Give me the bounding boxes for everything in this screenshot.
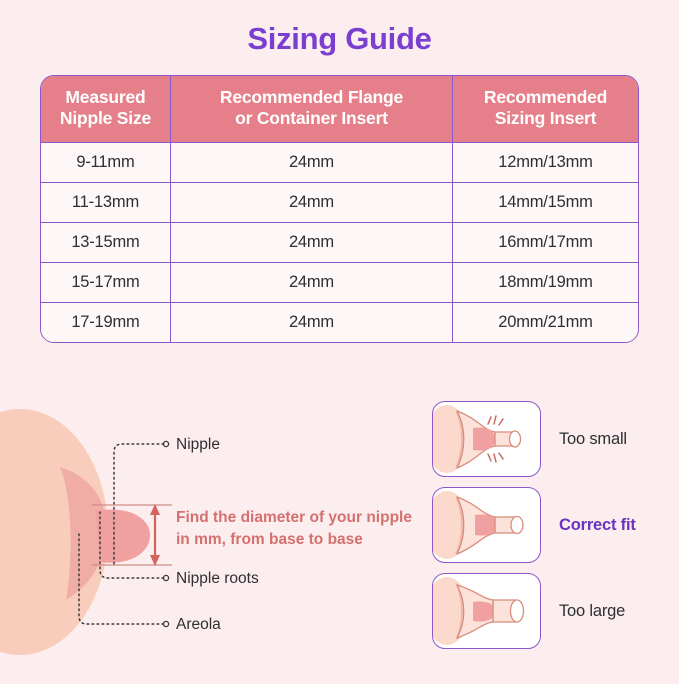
cell-sizing-insert: 18mm/19mm — [453, 262, 639, 302]
cell-recommended-flange: 24mm — [170, 302, 452, 342]
cell-sizing-insert: 14mm/15mm — [453, 182, 639, 222]
table-header: Measured Nipple Size Recommended Flange … — [41, 76, 638, 142]
cell-measured-nipple-size: 13-15mm — [41, 222, 170, 262]
column-header-measured-nipple-size: Measured Nipple Size — [41, 76, 170, 142]
fit-label-correct-fit: Correct fit — [559, 516, 636, 535]
tunnel-opening-icon — [511, 517, 523, 534]
fit-card-correct-fit — [432, 487, 541, 563]
header-line-1: Measured — [65, 87, 145, 107]
cell-recommended-flange: 24mm — [170, 142, 452, 182]
column-header-recommended-flange: Recommended Flange or Container Insert — [170, 76, 452, 142]
cell-measured-nipple-size: 15-17mm — [41, 262, 170, 302]
flange-correct-fit-illustration — [433, 488, 540, 562]
cell-measured-nipple-size: 9-11mm — [41, 142, 170, 182]
flange-too-large-illustration — [433, 574, 540, 648]
table-row: 15-17mm 24mm 18mm/19mm — [41, 262, 638, 302]
column-header-recommended-sizing-insert: Recommended Sizing Insert — [453, 76, 639, 142]
tunnel-opening-icon — [511, 600, 524, 622]
header-line-2: or Container Insert — [235, 108, 388, 128]
cell-sizing-insert: 12mm/13mm — [453, 142, 639, 182]
cell-recommended-flange: 24mm — [170, 182, 452, 222]
fit-example-correct-fit: Correct fit — [432, 486, 679, 564]
instruction-line-1: Find the diameter of your nipple — [176, 509, 412, 526]
label-areola: Areola — [176, 616, 221, 633]
cell-sizing-insert: 20mm/21mm — [453, 302, 639, 342]
cell-sizing-insert: 16mm/17mm — [453, 222, 639, 262]
breast-anatomy-diagram: Nipple Nipple roots Areola Find the diam… — [0, 392, 440, 679]
lower-section: Nipple Nipple roots Areola Find the diam… — [0, 392, 679, 679]
table-header-row: Measured Nipple Size Recommended Flange … — [41, 76, 638, 142]
table-row: 11-13mm 24mm 14mm/15mm — [41, 182, 638, 222]
table-body: 9-11mm 24mm 12mm/13mm 11-13mm 24mm 14mm/… — [41, 142, 638, 342]
page-title: Sizing Guide — [0, 0, 679, 56]
label-nipple-roots: Nipple roots — [176, 570, 259, 587]
table-row: 13-15mm 24mm 16mm/17mm — [41, 222, 638, 262]
header-line-1: Recommended — [484, 87, 607, 107]
cell-measured-nipple-size: 17-19mm — [41, 302, 170, 342]
sizing-table-container: Measured Nipple Size Recommended Flange … — [40, 75, 639, 343]
anatomy-illustration: Nipple Nipple roots Areola Find the diam… — [0, 392, 440, 679]
header-line-2: Nipple Size — [60, 108, 151, 128]
fit-example-too-large: Too large — [432, 572, 679, 650]
fit-label-too-large: Too large — [559, 602, 625, 621]
cell-recommended-flange: 24mm — [170, 262, 452, 302]
fit-label-too-small: Too small — [559, 430, 627, 449]
measure-arrow-head-down-icon — [150, 555, 160, 566]
fit-examples-panel: Too small Correct fit — [432, 400, 679, 658]
table-row: 17-19mm 24mm 20mm/21mm — [41, 302, 638, 342]
tunnel-opening-icon — [510, 431, 521, 447]
sizing-table: Measured Nipple Size Recommended Flange … — [41, 76, 638, 342]
fit-example-too-small: Too small — [432, 400, 679, 478]
fit-card-too-large — [432, 573, 541, 649]
cell-recommended-flange: 24mm — [170, 222, 452, 262]
header-line-2: Sizing Insert — [495, 108, 596, 128]
header-line-1: Recommended Flange — [220, 87, 403, 107]
measure-arrow-head-up-icon — [150, 504, 160, 515]
instruction-line-2: in mm, from base to base — [176, 531, 363, 548]
flange-too-small-illustration — [433, 402, 540, 476]
table-row: 9-11mm 24mm 12mm/13mm — [41, 142, 638, 182]
fit-card-too-small — [432, 401, 541, 477]
label-nipple: Nipple — [176, 436, 220, 453]
cell-measured-nipple-size: 11-13mm — [41, 182, 170, 222]
